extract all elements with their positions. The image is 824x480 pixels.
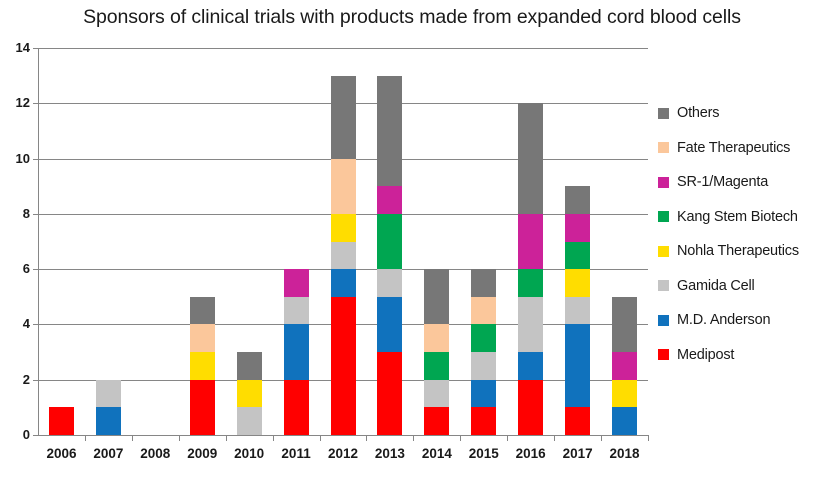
bar-column[interactable] bbox=[96, 380, 121, 435]
x-tick-mark bbox=[601, 436, 602, 441]
y-tick-label: 0 bbox=[0, 428, 30, 441]
legend-label: M.D. Anderson bbox=[677, 312, 770, 328]
x-tick-label: 2008 bbox=[132, 447, 179, 461]
x-axis-line bbox=[38, 435, 649, 436]
legend-swatch-icon bbox=[658, 246, 669, 257]
bar-segment[interactable] bbox=[284, 269, 309, 297]
legend-swatch-icon bbox=[658, 211, 669, 222]
bar-segment[interactable] bbox=[190, 380, 215, 435]
bar-column[interactable] bbox=[49, 407, 74, 435]
bar-segment[interactable] bbox=[424, 324, 449, 352]
bar-segment[interactable] bbox=[612, 352, 637, 380]
bar-segment[interactable] bbox=[96, 380, 121, 408]
x-tick-mark bbox=[226, 436, 227, 441]
bar-segment[interactable] bbox=[424, 407, 449, 435]
x-tick-label: 2015 bbox=[460, 447, 507, 461]
y-tick-label: 12 bbox=[0, 96, 30, 109]
bar-segment[interactable] bbox=[377, 214, 402, 269]
bar-segment[interactable] bbox=[331, 269, 356, 297]
legend-label: Gamida Cell bbox=[677, 278, 755, 294]
y-tick-label: 4 bbox=[0, 317, 30, 330]
x-tick-mark bbox=[366, 436, 367, 441]
bar-segment[interactable] bbox=[612, 380, 637, 408]
legend-swatch-icon bbox=[658, 349, 669, 360]
bar-segment[interactable] bbox=[377, 352, 402, 435]
x-tick-mark bbox=[273, 436, 274, 441]
bar-segment[interactable] bbox=[424, 380, 449, 408]
bar-column[interactable] bbox=[471, 269, 496, 435]
legend-item[interactable]: Gamida Cell bbox=[658, 269, 824, 304]
legend-label: Nohla Therapeutics bbox=[677, 243, 799, 259]
bar-segment[interactable] bbox=[518, 103, 543, 214]
bar-segment[interactable] bbox=[331, 159, 356, 214]
legend-label: Medipost bbox=[677, 347, 734, 363]
y-tick-label: 14 bbox=[0, 41, 30, 54]
bar-segment[interactable] bbox=[377, 76, 402, 187]
legend-swatch-icon bbox=[658, 280, 669, 291]
legend-item[interactable]: Others bbox=[658, 96, 824, 131]
bar-segment[interactable] bbox=[377, 186, 402, 214]
bar-segment[interactable] bbox=[565, 214, 590, 242]
bar-segment[interactable] bbox=[518, 297, 543, 352]
bar-segment[interactable] bbox=[565, 186, 590, 214]
bar-segment[interactable] bbox=[237, 352, 262, 380]
legend-item[interactable]: M.D. Anderson bbox=[658, 303, 824, 338]
bar-segment[interactable] bbox=[284, 297, 309, 325]
bar-column[interactable] bbox=[518, 103, 543, 435]
x-tick-label: 2006 bbox=[38, 447, 85, 461]
legend-swatch-icon bbox=[658, 142, 669, 153]
bar-segment[interactable] bbox=[471, 407, 496, 435]
x-tick-label: 2011 bbox=[273, 447, 320, 461]
y-tick-label: 10 bbox=[0, 152, 30, 165]
x-tick-mark bbox=[179, 436, 180, 441]
bar-segment[interactable] bbox=[331, 297, 356, 435]
bar-segment[interactable] bbox=[331, 76, 356, 159]
bar-column[interactable] bbox=[237, 352, 262, 435]
bar-column[interactable] bbox=[284, 269, 309, 435]
x-tick-mark bbox=[85, 436, 86, 441]
x-tick-mark bbox=[648, 436, 649, 441]
x-tick-mark bbox=[507, 436, 508, 441]
legend-item[interactable]: Fate Therapeutics bbox=[658, 131, 824, 166]
bar-segment[interactable] bbox=[518, 352, 543, 380]
bar-segment[interactable] bbox=[471, 269, 496, 297]
bar-segment[interactable] bbox=[377, 269, 402, 297]
bar-segment[interactable] bbox=[565, 324, 590, 407]
bar-segment[interactable] bbox=[612, 297, 637, 352]
bar-segment[interactable] bbox=[518, 380, 543, 435]
bars-layer bbox=[38, 48, 648, 435]
bar-segment[interactable] bbox=[565, 407, 590, 435]
bar-segment[interactable] bbox=[331, 242, 356, 270]
x-tick-mark bbox=[132, 436, 133, 441]
bar-segment[interactable] bbox=[518, 214, 543, 269]
legend-item[interactable]: Medipost bbox=[658, 338, 824, 373]
x-tick-label: 2017 bbox=[554, 447, 601, 461]
bar-segment[interactable] bbox=[190, 324, 215, 352]
bar-segment[interactable] bbox=[471, 297, 496, 325]
x-tick-label: 2014 bbox=[413, 447, 460, 461]
x-tick-label: 2007 bbox=[85, 447, 132, 461]
bar-segment[interactable] bbox=[471, 324, 496, 352]
bar-column[interactable] bbox=[190, 297, 215, 435]
x-tick-mark bbox=[554, 436, 555, 441]
bar-segment[interactable] bbox=[331, 214, 356, 242]
stacked-bar-chart: Sponsors of clinical trials with product… bbox=[0, 0, 824, 480]
bar-segment[interactable] bbox=[190, 352, 215, 380]
y-tick-label: 2 bbox=[0, 373, 30, 386]
legend-label: Kang Stem Biotech bbox=[677, 209, 798, 225]
bar-segment[interactable] bbox=[49, 407, 74, 435]
bar-segment[interactable] bbox=[565, 297, 590, 325]
bar-segment[interactable] bbox=[284, 324, 309, 379]
legend-item[interactable]: Nohla Therapeutics bbox=[658, 234, 824, 269]
bar-segment[interactable] bbox=[424, 352, 449, 380]
x-tick-mark bbox=[460, 436, 461, 441]
x-tick-label: 2018 bbox=[601, 447, 648, 461]
x-tick-label: 2013 bbox=[366, 447, 413, 461]
bar-segment[interactable] bbox=[612, 407, 637, 435]
x-tick-mark bbox=[413, 436, 414, 441]
bar-segment[interactable] bbox=[284, 380, 309, 435]
bar-segment[interactable] bbox=[518, 269, 543, 297]
bar-segment[interactable] bbox=[237, 380, 262, 408]
chart-legend: OthersFate TherapeuticsSR-1/MagentaKang … bbox=[658, 96, 824, 372]
bar-column[interactable] bbox=[612, 297, 637, 435]
legend-swatch-icon bbox=[658, 315, 669, 326]
bar-column[interactable] bbox=[424, 269, 449, 435]
bar-segment[interactable] bbox=[565, 269, 590, 297]
bar-segment[interactable] bbox=[471, 380, 496, 408]
legend-label: SR-1/Magenta bbox=[677, 174, 768, 190]
legend-swatch-icon bbox=[658, 177, 669, 188]
y-tick-mark bbox=[33, 435, 38, 436]
bar-segment[interactable] bbox=[237, 407, 262, 435]
bar-column[interactable] bbox=[377, 76, 402, 435]
x-tick-label: 2010 bbox=[226, 447, 273, 461]
legend-label: Fate Therapeutics bbox=[677, 140, 790, 156]
legend-swatch-icon bbox=[658, 108, 669, 119]
legend-item[interactable]: SR-1/Magenta bbox=[658, 165, 824, 200]
bar-column[interactable] bbox=[565, 186, 590, 435]
x-tick-label: 2016 bbox=[507, 447, 554, 461]
x-tick-label: 2009 bbox=[179, 447, 226, 461]
bar-segment[interactable] bbox=[96, 407, 121, 435]
legend-item[interactable]: Kang Stem Biotech bbox=[658, 200, 824, 235]
legend-label: Others bbox=[677, 105, 719, 121]
x-tick-mark bbox=[320, 436, 321, 441]
y-tick-label: 6 bbox=[0, 262, 30, 275]
chart-title: Sponsors of clinical trials with product… bbox=[0, 6, 824, 29]
x-tick-label: 2012 bbox=[320, 447, 367, 461]
y-tick-label: 8 bbox=[0, 207, 30, 220]
bar-column[interactable] bbox=[331, 76, 356, 435]
bar-segment[interactable] bbox=[565, 242, 590, 270]
bar-segment[interactable] bbox=[377, 297, 402, 352]
bar-segment[interactable] bbox=[471, 352, 496, 380]
bar-segment[interactable] bbox=[190, 297, 215, 325]
bar-segment[interactable] bbox=[424, 269, 449, 324]
